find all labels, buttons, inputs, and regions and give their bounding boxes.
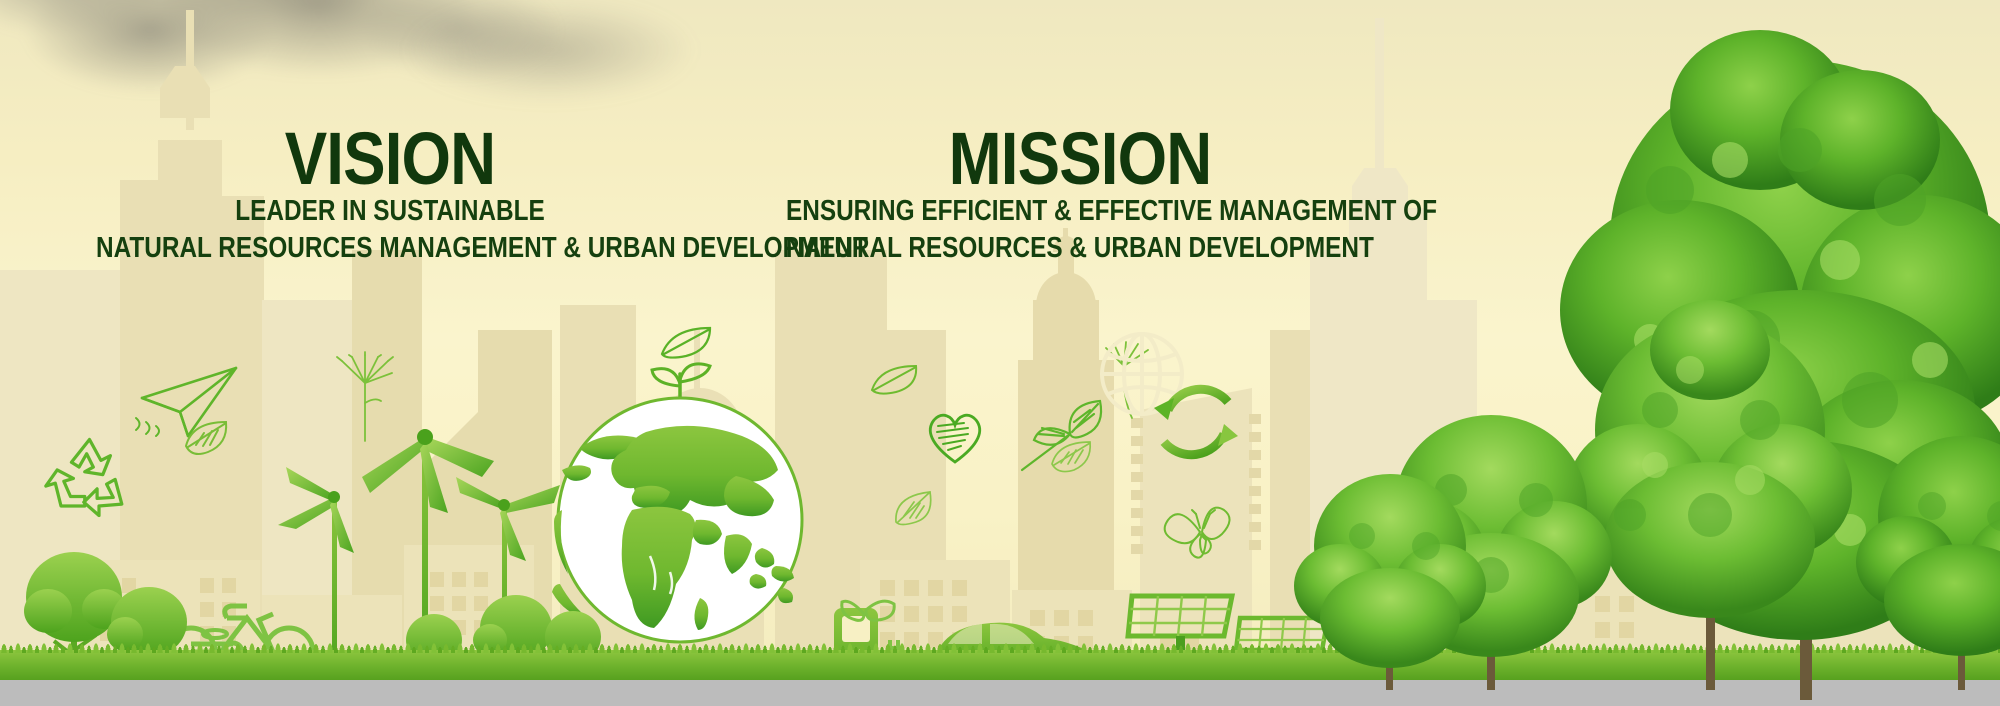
- leaf-sprig-2-icon: [868, 360, 922, 398]
- vision-heading: VISION: [89, 125, 691, 193]
- mission-subtitle-line1: ENSURING EFFICIENT & EFFECTIVE MANAGEMEN…: [786, 193, 1374, 230]
- recycle-arrows-icon: [1146, 372, 1246, 472]
- mission-heading: MISSION: [779, 125, 1381, 193]
- leaf-mid-left-icon: [890, 488, 938, 530]
- dandelion-icon: [330, 355, 400, 445]
- tree-icon: [1862, 420, 2000, 690]
- leaf-small-right-icon: [1048, 438, 1098, 478]
- vision-subtitle-line1: LEADER IN SUSTAINABLE: [96, 193, 684, 230]
- heart-icon: [924, 408, 986, 468]
- vision-block: VISION LEADER IN SUSTAINABLE NATURAL RES…: [40, 125, 740, 266]
- vision-mission-banner: VISION LEADER IN SUSTAINABLE NATURAL RES…: [0, 0, 2000, 706]
- recycle-icon: [42, 430, 137, 525]
- leaf-icon: [182, 418, 234, 458]
- vision-subtitle-line2: NATURAL RESOURCES MANAGEMENT & URBAN DEV…: [96, 230, 684, 267]
- mission-subtitle-line2: NATURAL RESOURCES & URBAN DEVELOPMENT: [786, 230, 1374, 267]
- butterfly-icon: [1162, 498, 1242, 568]
- leaf-sprig-icon: [656, 322, 716, 362]
- tree-icon: [1290, 460, 1490, 690]
- mission-block: MISSION ENSURING EFFICIENT & EFFECTIVE M…: [730, 125, 1430, 266]
